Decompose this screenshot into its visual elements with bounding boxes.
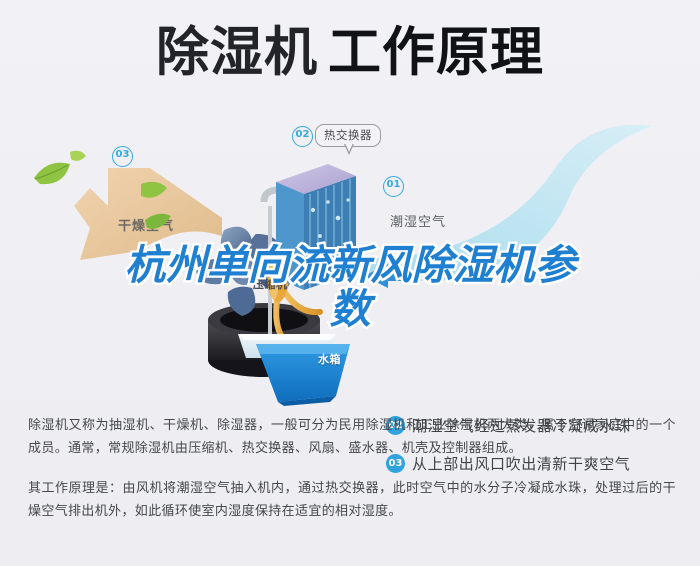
leaf-icon <box>24 148 94 200</box>
paragraph-1: 除湿机又称为抽湿机、干燥机、除湿器，一般可分为民用除湿机和工业除湿机两大类，属于… <box>28 414 676 460</box>
paragraph-2: 其工作原理是：由风机将潮湿空气抽入机内，通过热交换器，此时空气中的水分子冷凝成水… <box>28 477 676 523</box>
dehumidifier-machine-illustration <box>160 144 420 410</box>
body-copy: 除湿机又称为抽湿机、干燥机、除湿器，一般可分为民用除湿机和工业除湿机两大类，属于… <box>28 414 676 523</box>
diagram-stage: 干燥空气 潮湿空气 03 02 <box>0 118 700 410</box>
water-tank-label: 水箱 <box>318 351 341 367</box>
infographic-page: 除湿机工作原理 干燥空气 <box>0 0 700 566</box>
compressor-label: 压缩机 <box>253 276 288 292</box>
dry-air-marker: 03 <box>112 146 133 167</box>
page-title-part1: 除湿机 <box>156 22 318 83</box>
page-title: 除湿机工作原理 <box>0 22 700 84</box>
page-title-part2: 工作原理 <box>328 22 544 83</box>
